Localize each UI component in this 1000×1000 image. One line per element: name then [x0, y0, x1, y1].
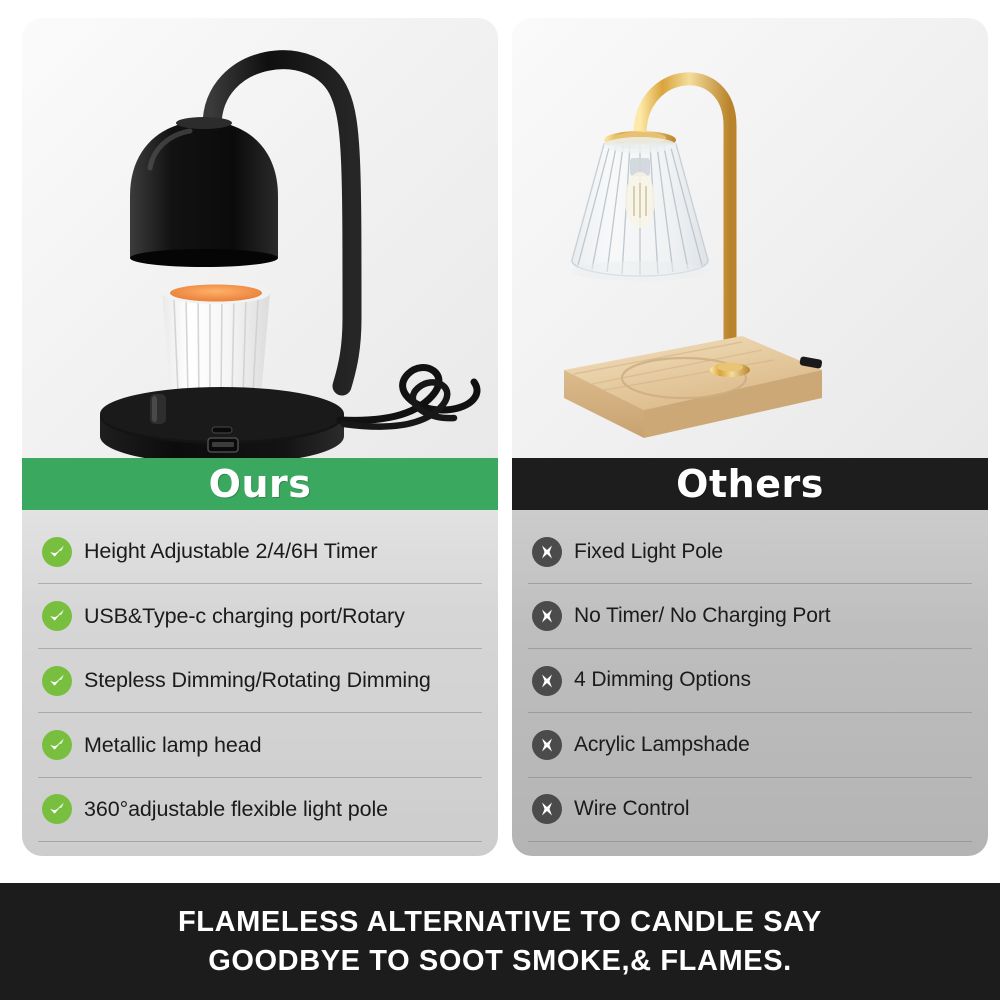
- header-title-others: Others: [676, 465, 824, 503]
- banner-line-2: GOODBYE TO SOOT SMOKE,& FLAMES.: [208, 947, 792, 976]
- header-bar-ours: Ours: [22, 458, 498, 510]
- infographic-page: Ours Height Adjustable 2/4/6H Timer USB&…: [0, 0, 1000, 1000]
- list-item-label: Metallic lamp head: [84, 733, 261, 758]
- list-item: Fixed Light Pole: [528, 520, 972, 584]
- cross-circle-icon: [532, 666, 562, 696]
- list-item: Stepless Dimming/Rotating Dimming: [38, 649, 482, 713]
- panel-ours: Ours Height Adjustable 2/4/6H Timer USB&…: [22, 18, 498, 856]
- check-circle-icon: [42, 666, 72, 696]
- list-item: Wire Control: [528, 778, 972, 842]
- check-circle-icon: [42, 537, 72, 567]
- comparison-panels: Ours Height Adjustable 2/4/6H Timer USB&…: [0, 0, 1000, 880]
- black-candle-warmer-lamp-illustration: [22, 18, 498, 458]
- check-circle-icon: [42, 730, 72, 760]
- banner-line-1: FLAMELESS ALTERNATIVE TO CANDLE SAY: [178, 908, 822, 937]
- list-item: 360°adjustable flexible light pole: [38, 778, 482, 842]
- list-item: Acrylic Lampshade: [528, 713, 972, 777]
- panel-others: Others Fixed Light Pole No Timer/ No Cha…: [512, 18, 988, 856]
- list-item: Metallic lamp head: [38, 713, 482, 777]
- header-bar-others: Others: [512, 458, 988, 510]
- cross-circle-icon: [532, 601, 562, 631]
- cross-circle-icon: [532, 730, 562, 760]
- list-item-label: Acrylic Lampshade: [574, 733, 750, 757]
- product-photo-ours: [22, 18, 498, 458]
- check-circle-icon: [42, 794, 72, 824]
- header-title-ours: Ours: [209, 465, 312, 503]
- cross-circle-icon: [532, 537, 562, 567]
- list-item: 4 Dimming Options: [528, 649, 972, 713]
- gold-wood-candle-warmer-lamp-illustration: [512, 18, 988, 458]
- list-item-label: USB&Type-c charging port/Rotary: [84, 604, 405, 629]
- cross-circle-icon: [532, 794, 562, 824]
- list-item-label: No Timer/ No Charging Port: [574, 604, 831, 628]
- list-item-label: 360°adjustable flexible light pole: [84, 797, 388, 822]
- list-item: Height Adjustable 2/4/6H Timer: [38, 520, 482, 584]
- list-item: No Timer/ No Charging Port: [528, 584, 972, 648]
- list-item: USB&Type-c charging port/Rotary: [38, 584, 482, 648]
- bottom-banner: FLAMELESS ALTERNATIVE TO CANDLE SAY GOOD…: [0, 883, 1000, 1000]
- feature-list-others: Fixed Light Pole No Timer/ No Charging P…: [512, 510, 988, 856]
- product-photo-others: [512, 18, 988, 458]
- list-item-label: Height Adjustable 2/4/6H Timer: [84, 539, 377, 564]
- list-item-label: 4 Dimming Options: [574, 668, 751, 692]
- check-circle-icon: [42, 601, 72, 631]
- list-item-label: Fixed Light Pole: [574, 540, 723, 564]
- feature-list-ours: Height Adjustable 2/4/6H Timer USB&Type-…: [22, 510, 498, 856]
- list-item-label: Stepless Dimming/Rotating Dimming: [84, 668, 431, 693]
- list-item-label: Wire Control: [574, 797, 690, 821]
